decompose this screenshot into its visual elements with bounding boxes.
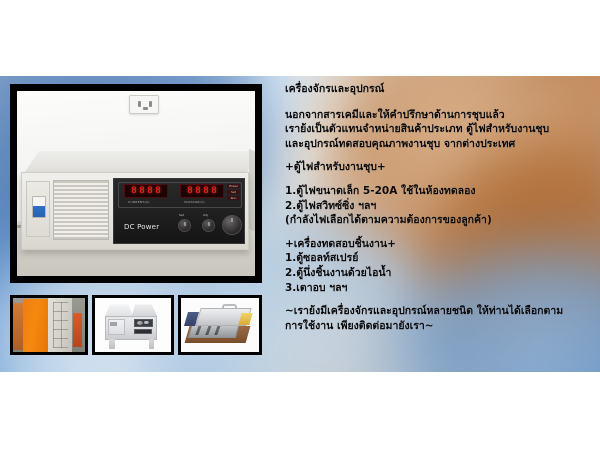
copy-section1-item-1: 1.ตู้ไฟขนาดเล็ก 5-20A ใช้ในห้องทดลอง: [285, 184, 590, 199]
slide-page: 8 8 8 8 CURRENT(A) 8 8 8 8: [0, 0, 600, 450]
copy-footer-line-2: การใช้งาน เพียงติดต่อมายังเรา~: [285, 319, 590, 334]
device-brand-label: DC Power: [124, 223, 159, 231]
digit: 8: [187, 186, 194, 196]
copy-section2-title: +เครื่องทดสอบชิ้นงาน+: [285, 237, 590, 252]
thumb2-leg-left: [109, 339, 114, 349]
digit: 8: [195, 186, 202, 196]
chassis-front-face: 8 8 8 8 CURRENT(A) 8 8 8 8: [21, 172, 249, 250]
small-knob-left[interactable]: [178, 219, 191, 232]
ventilation-grille: [53, 180, 109, 240]
description-text-block: เครื่องจักรและอุปกรณ์ นอกจากสารเคมีและให…: [285, 82, 590, 333]
thumb2-chamber-body: [105, 316, 157, 340]
thumb3-slot: [205, 325, 211, 335]
knob-label-set: Set: [179, 213, 184, 217]
copy-section1-item-2: 2.ตู้ไฟสวิทซ์ซิ่ง ฯลฯ: [285, 199, 590, 214]
large-adjust-knob[interactable]: [222, 215, 242, 235]
led-run: Run: [227, 196, 240, 200]
content-band: 8 8 8 8 CURRENT(A) 8 8 8 8: [0, 76, 600, 372]
digit: 8: [203, 186, 210, 196]
dc-power-supply-photo: 8 8 8 8 CURRENT(A) 8 8 8 8: [17, 91, 255, 276]
breaker-switch: [32, 196, 46, 218]
control-panel: 8 8 8 8 CURRENT(A) 8 8 8 8: [113, 178, 245, 244]
thumb2-dial-large: [137, 321, 143, 325]
copy-intro-line-3: และอุปกรณ์ทดสอบคุณภาพงานชุบ จากต่างประเท…: [285, 137, 590, 152]
digit: 8: [139, 186, 146, 196]
power-supply-unit: 8 8 8 8 CURRENT(A) 8 8 8 8: [21, 172, 251, 253]
copy-intro-line-2: เราย้งเป็นตัวแทนจำหน่ายสินค้าประเภท ตู้ไ…: [285, 122, 590, 137]
hero-photo-frame: 8 8 8 8 CURRENT(A) 8 8 8 8: [10, 84, 262, 283]
digit: 8: [155, 186, 162, 196]
small-knob-right[interactable]: [202, 219, 215, 232]
thumb1-vent-grid: [53, 302, 69, 347]
thumb2-display: [134, 329, 152, 334]
digit: 8: [147, 186, 154, 196]
knob-label-adj: Adj: [203, 213, 208, 217]
thumb2-dial-small: [144, 321, 149, 324]
thumb1-orange-cabinet: [23, 299, 47, 352]
led-power: Power: [227, 184, 240, 188]
voltage-display: 8 8 8 8: [180, 184, 224, 198]
copy-section1-note: (กำลังไฟเลือกได้ตามความต้องการของลูกค้า): [285, 213, 590, 228]
thumb-salt-spray-test-chamber[interactable]: [92, 295, 174, 355]
chassis-side: [249, 149, 255, 235]
circuit-breaker-bay: [26, 181, 50, 237]
thumb2-window: [110, 322, 116, 327]
thumb2-control-box: [134, 319, 153, 328]
copy-heading: เครื่องจักรและอุปกรณ์: [285, 82, 590, 97]
copy-section2-item-3: 3.เตาอบ ฯลฯ: [285, 281, 590, 296]
copy-footer-line-1: ~เราย้งมีเครื่องจักรและอุปกรณ์หลายชนิด ใ…: [285, 304, 590, 319]
digit: 8: [131, 186, 138, 196]
thumb1-right-tank: [73, 313, 82, 346]
current-display: 8 8 8 8: [124, 184, 168, 198]
thumb-plating-line-cabinets[interactable]: [10, 295, 88, 355]
digit: 8: [211, 186, 218, 196]
thumb2-door: [108, 319, 125, 335]
thumb3-slot: [196, 325, 202, 335]
voltage-display-label: VOLTAGE(V): [184, 200, 205, 204]
copy-section2-item-1: 1.ตู้ซอลท์สเปรย์: [285, 251, 590, 266]
copy-section2-item-2: 2.ตู้นึ่งชิ้นงานด้วยไอน้ำ: [285, 266, 590, 281]
copy-section1-title: +ตู้ไฟสำหรับงานชุบ+: [285, 160, 590, 175]
indicator-led-group: Power Set Run: [227, 184, 240, 202]
current-display-label: CURRENT(A): [128, 200, 150, 204]
wall-socket-icon: [129, 95, 159, 114]
thumb2-leg-right: [149, 339, 154, 349]
thumb3-handle: [222, 304, 238, 308]
copy-intro-line-1: นอกจากสารเคมีและให้คำปรึกษาด้านการชุบแล้…: [285, 108, 590, 123]
thumb3-slot: [215, 325, 221, 335]
led-set: Set: [227, 190, 240, 194]
thumb1-left-tank: [13, 303, 23, 349]
thumb-conveyor-drying-oven[interactable]: [178, 295, 262, 355]
